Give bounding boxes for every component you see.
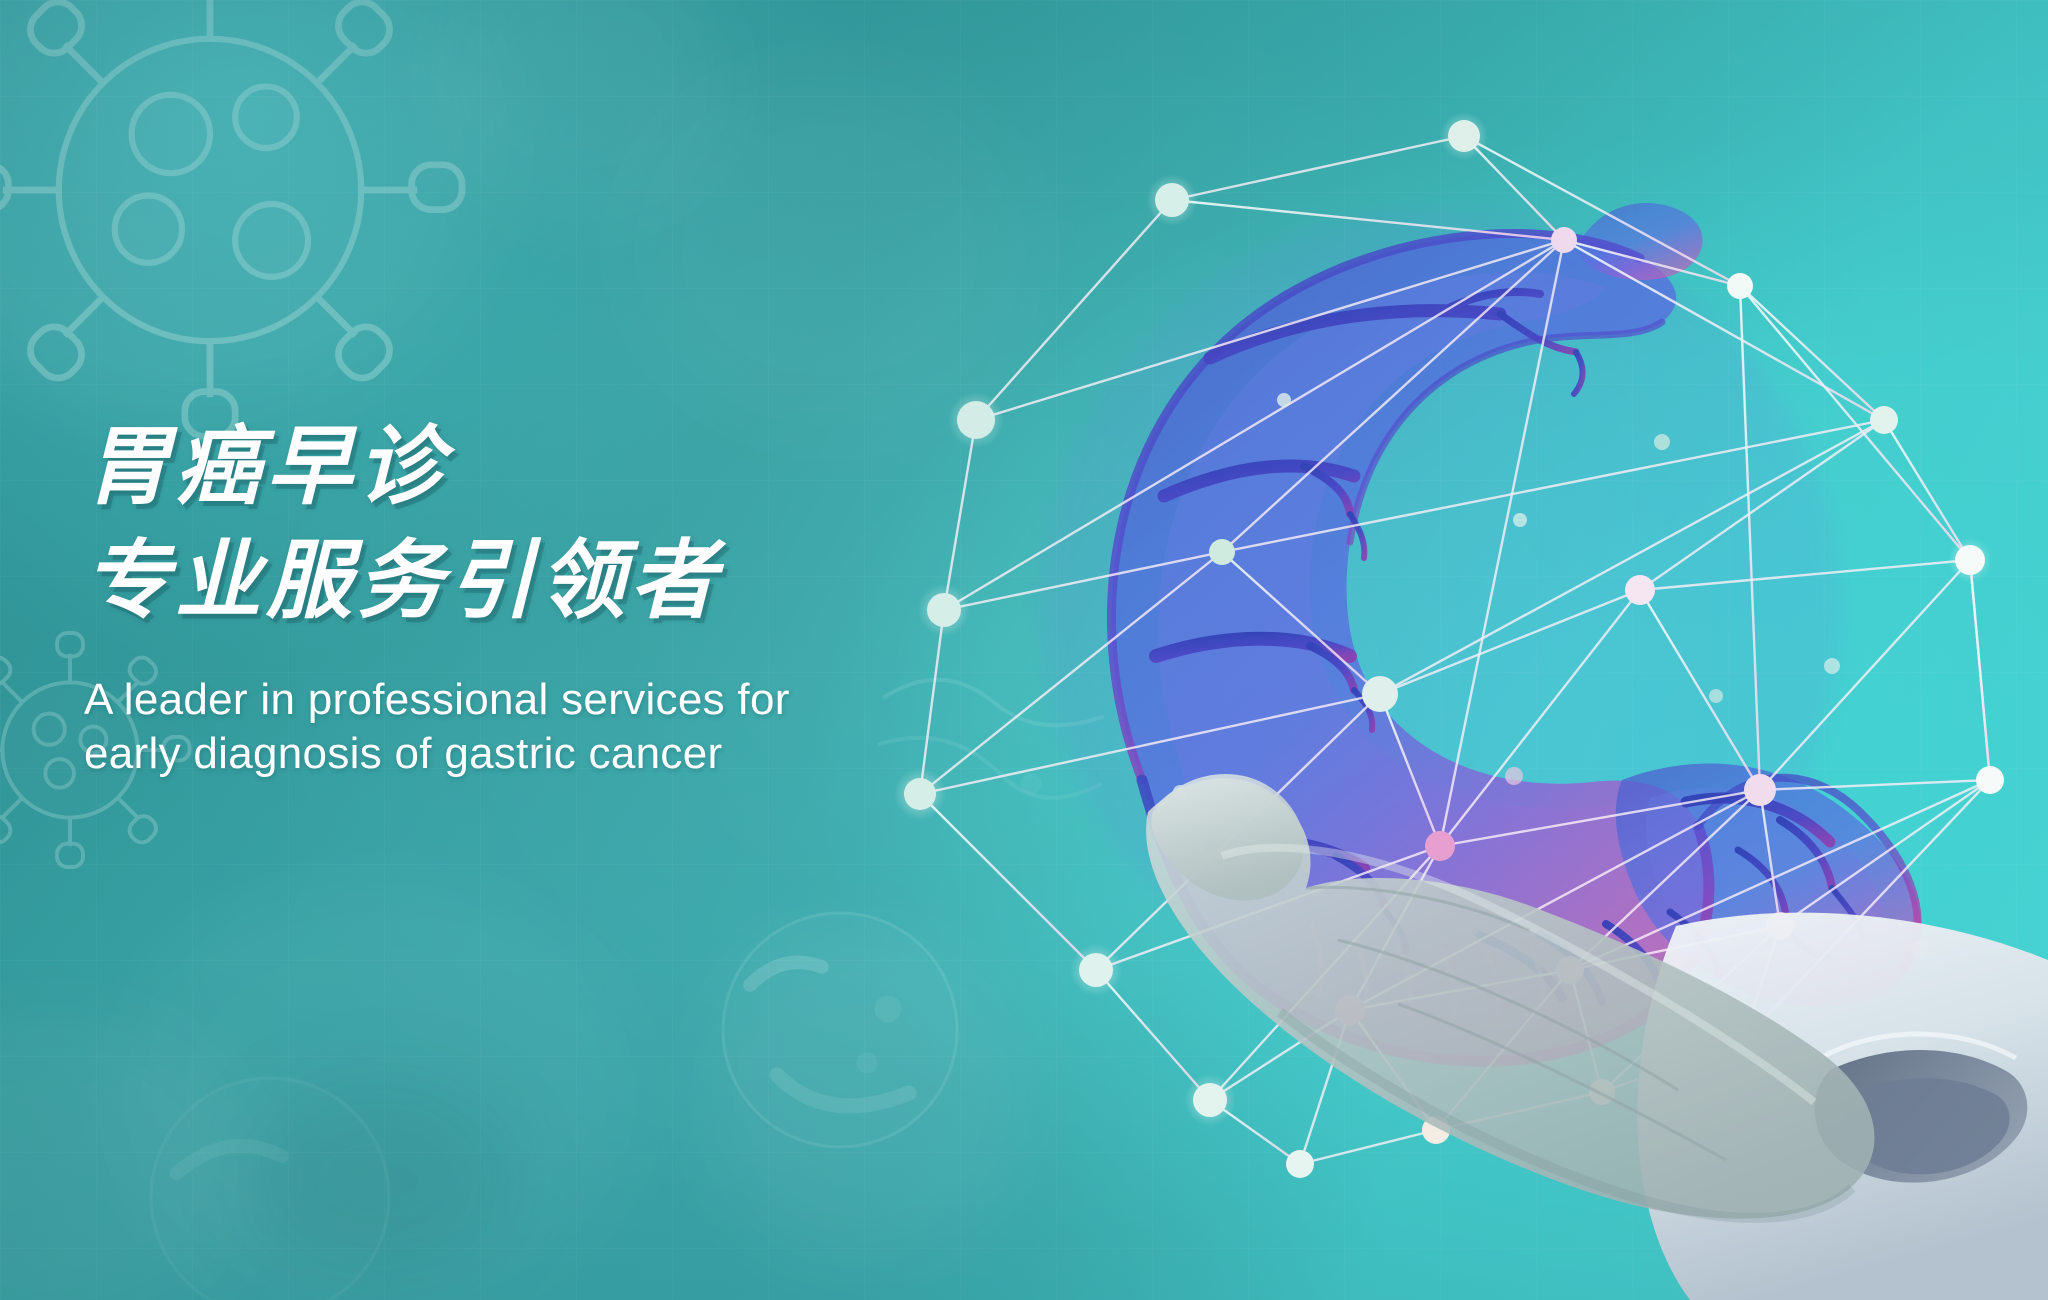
hand-holding-illustration bbox=[1130, 640, 2048, 1300]
headline-line-1: 胃癌早诊 bbox=[84, 410, 1024, 524]
page-title: 胃癌早诊 专业服务引领者 bbox=[84, 410, 1024, 639]
headline-line-2: 专业服务引领者 bbox=[84, 524, 1024, 638]
banner-hero: 胃癌早诊 专业服务引领者 A leader in professional se… bbox=[0, 0, 2048, 1300]
hero-copy: 胃癌早诊 专业服务引领者 A leader in professional se… bbox=[84, 410, 1024, 782]
page-subtitle: A leader in professional services for ea… bbox=[84, 673, 884, 782]
